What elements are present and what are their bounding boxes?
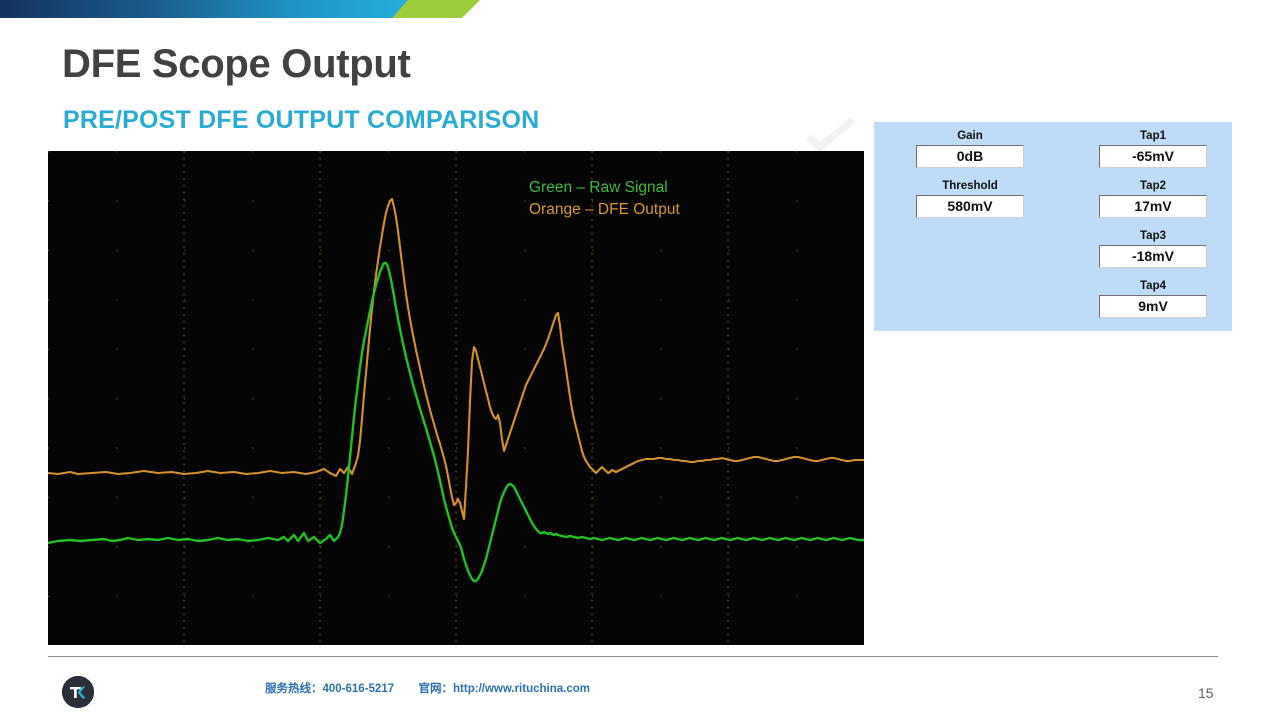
threshold-value-field[interactable]: 580mV: [916, 195, 1024, 218]
tap1-value-field[interactable]: -65mV: [1099, 145, 1207, 168]
tap2-value-field[interactable]: 17mV: [1099, 195, 1207, 218]
parameter-group-tap3: Tap3 -18mV: [1099, 230, 1207, 268]
top-banner: [0, 0, 1280, 18]
scope-canvas: [48, 151, 864, 645]
page-number: 15: [1198, 685, 1214, 701]
footer-divider: [48, 656, 1218, 657]
parameter-group-tap4: Tap4 9mV: [1099, 280, 1207, 318]
scope-minor-grid: [48, 151, 864, 645]
tap4-value-field[interactable]: 9mV: [1099, 295, 1207, 318]
scope-legend: Green – Raw Signal Orange – DFE Output: [529, 177, 680, 221]
parameter-column-left: Gain 0dB Threshold 580mV: [916, 130, 1024, 230]
gain-value-field[interactable]: 0dB: [916, 145, 1024, 168]
page-subtitle: PRE/POST DFE OUTPUT COMPARISON: [63, 106, 539, 135]
parameter-group-threshold: Threshold 580mV: [916, 180, 1024, 218]
tap3-label: Tap3: [1099, 230, 1207, 243]
tap4-label: Tap4: [1099, 280, 1207, 293]
tap2-label: Tap2: [1099, 180, 1207, 193]
footer-website[interactable]: 官网：http://www.rituchina.com: [419, 683, 590, 695]
oscilloscope-display: Green – Raw Signal Orange – DFE Output: [48, 151, 864, 645]
tap1-label: Tap1: [1099, 130, 1207, 143]
footer-contact: 服务热线：400-616-5217 官网：http://www.rituchin…: [265, 680, 590, 696]
logo-mark-icon: [62, 676, 94, 708]
page-title: DFE Scope Output: [62, 42, 411, 87]
tap3-value-field[interactable]: -18mV: [1099, 245, 1207, 268]
company-logo: [62, 676, 94, 708]
parameter-group-gain: Gain 0dB: [916, 130, 1024, 168]
banner-blue-stripe: [0, 0, 420, 18]
parameter-column-right: Tap1 -65mV Tap2 17mV Tap3 -18mV Tap4 9mV: [1099, 130, 1207, 330]
legend-dfe-output: Orange – DFE Output: [529, 199, 680, 221]
dfe-parameter-panel: Gain 0dB Threshold 580mV Tap1 -65mV Tap2…: [874, 122, 1232, 331]
legend-raw-signal: Green – Raw Signal: [529, 177, 680, 199]
parameter-group-tap1: Tap1 -65mV: [1099, 130, 1207, 168]
footer-hotline: 服务热线：400-616-5217: [265, 683, 394, 695]
gain-label: Gain: [916, 130, 1024, 143]
parameter-group-tap2: Tap2 17mV: [1099, 180, 1207, 218]
threshold-label: Threshold: [916, 180, 1024, 193]
